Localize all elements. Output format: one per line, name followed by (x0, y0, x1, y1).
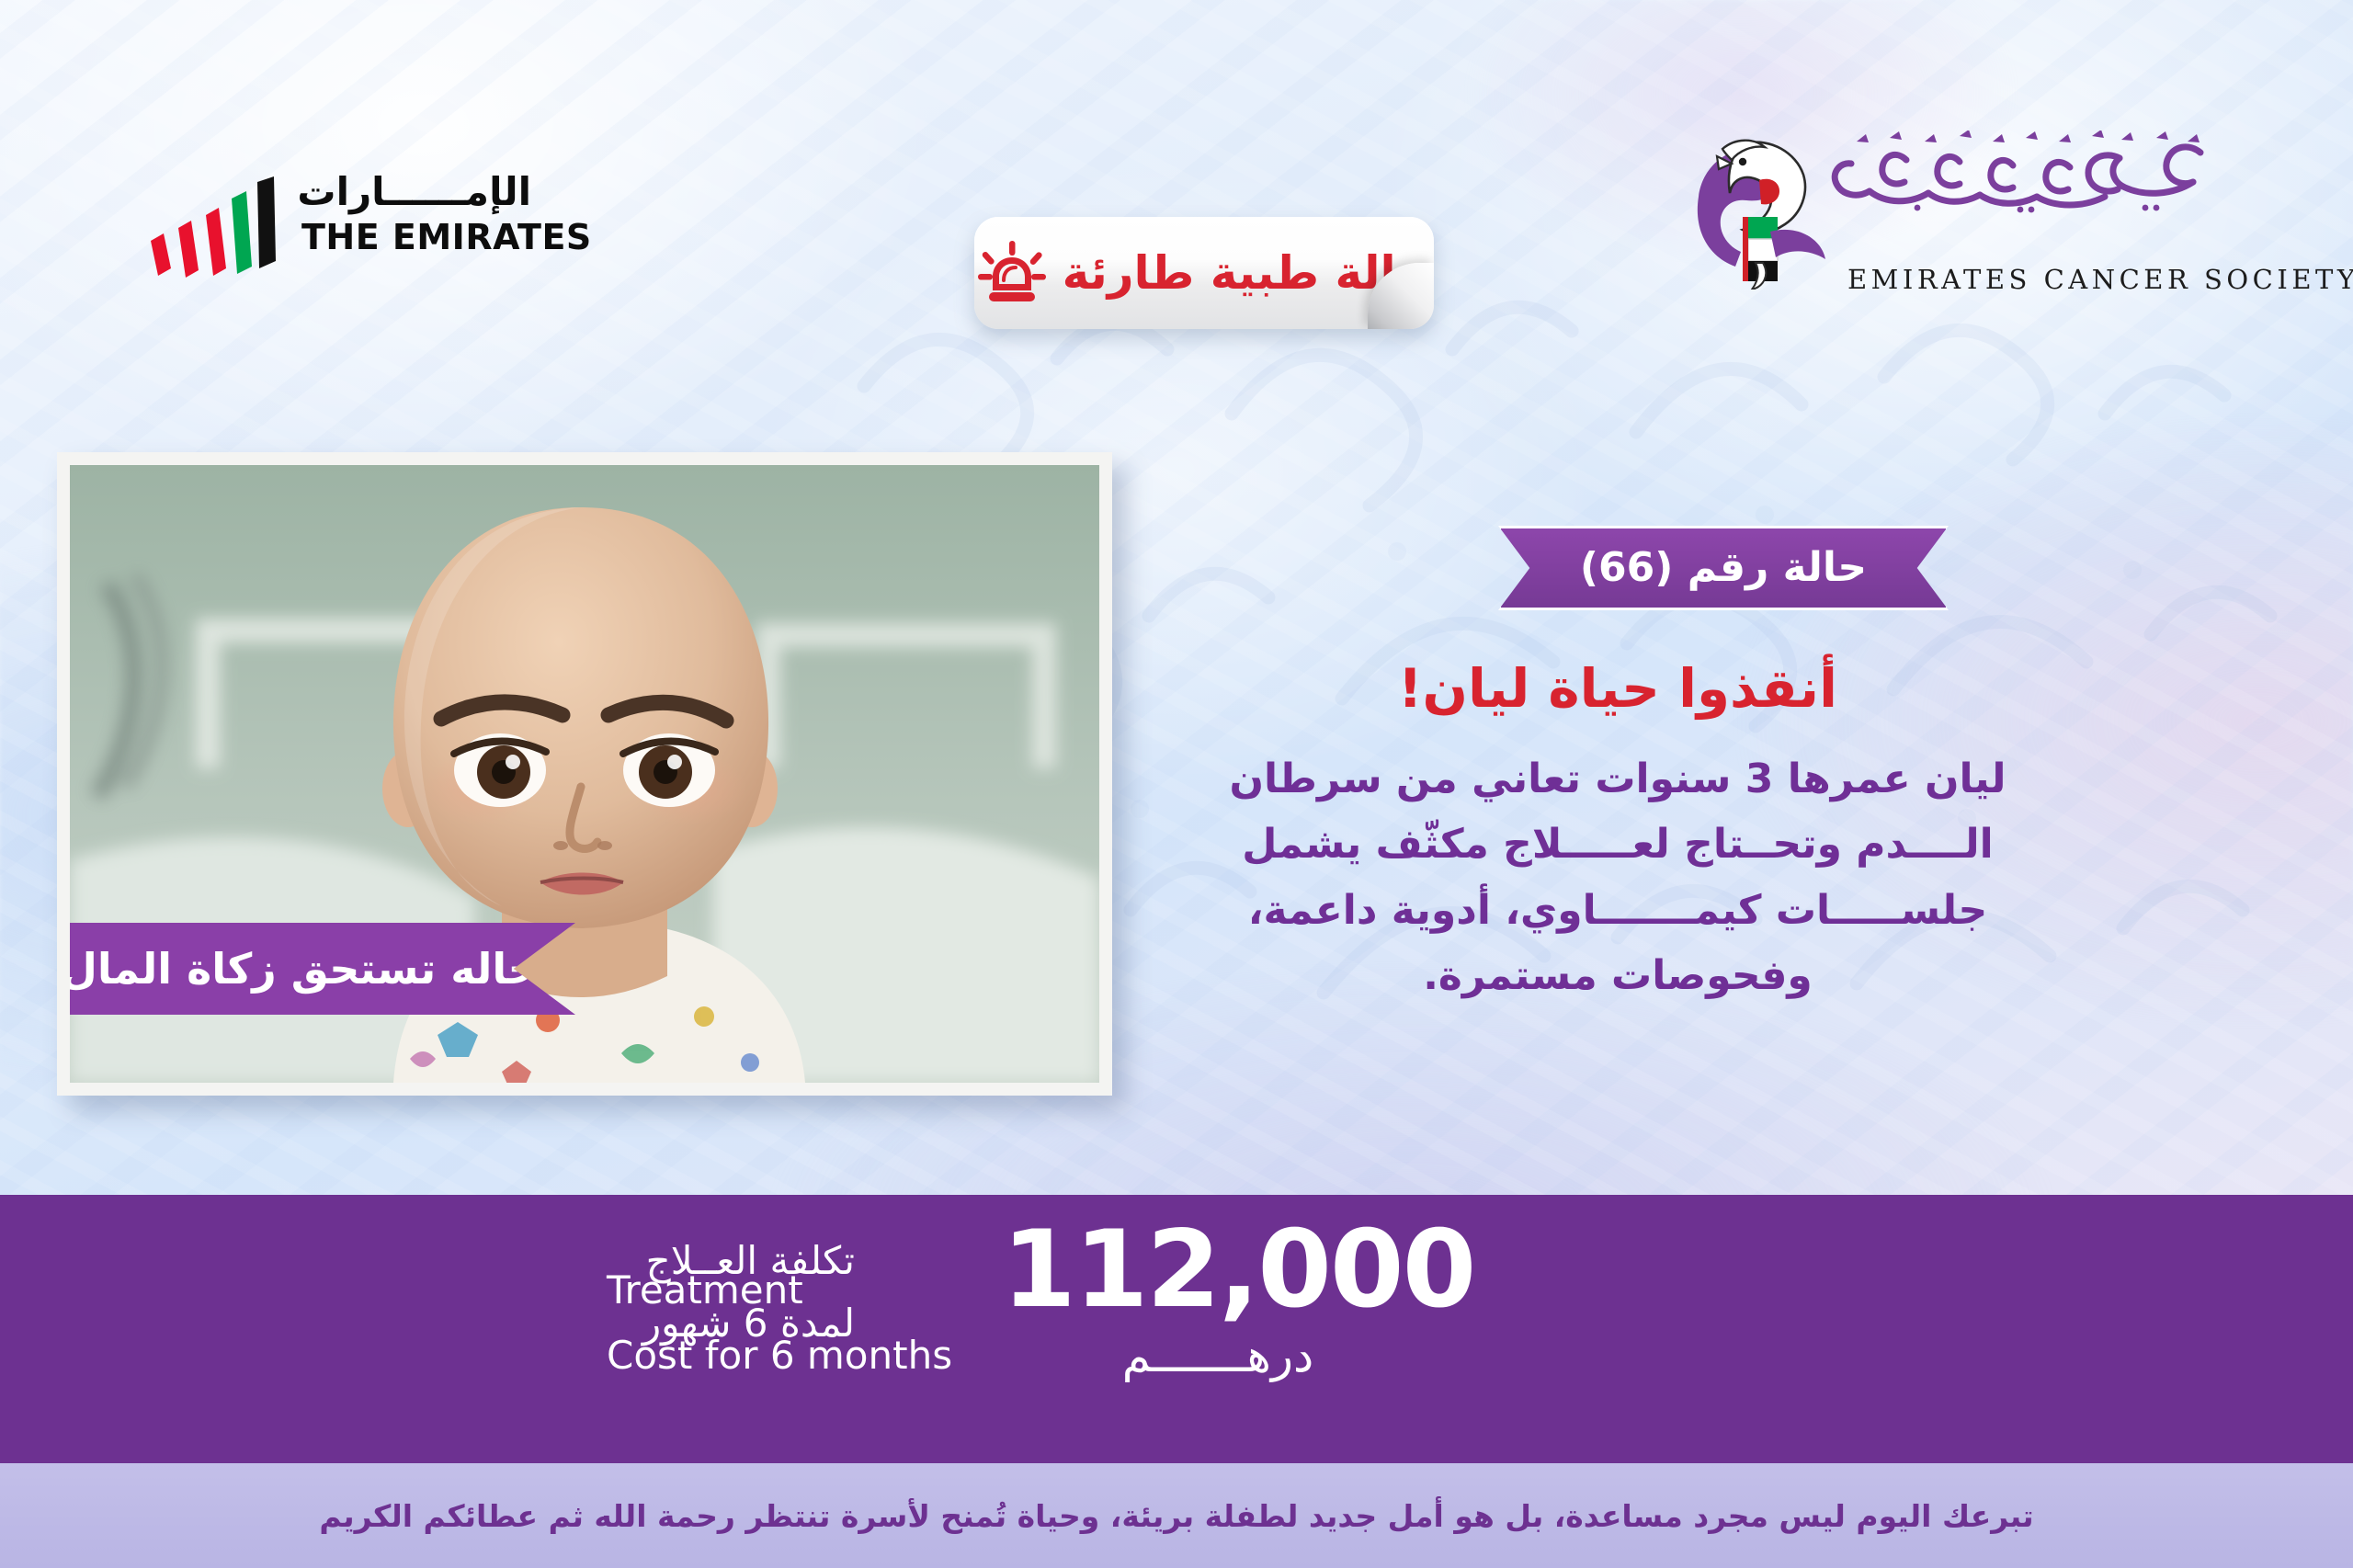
uae-logo-english: THE EMIRATES (301, 219, 531, 257)
case-number-ribbon: حالة رقم (66) (1498, 526, 1949, 610)
footer-message: تبرعك اليوم ليس مجرد مساعدة، بل هو أمل ج… (319, 1501, 2033, 1531)
zakat-badge-label: الحاله تستحق زكاة المال (70, 944, 569, 994)
ecs-logo-english: EMIRATES CANCER SOCIETY (1847, 264, 2215, 295)
treatment-cost-amount: 112,000 درهـــــــم (1002, 1217, 1434, 1382)
treatment-cost-label-english: Treatment Cost for 6 months (607, 1257, 965, 1389)
cost-amount-value: 112,000 (1002, 1217, 1434, 1324)
case-description-line: ليان عمرها 3 سنوات تعاني من سرطان (1158, 746, 2077, 812)
patient-photo: الحاله تستحق زكاة المال (70, 465, 1099, 1083)
patient-photo-frame: الحاله تستحق زكاة المال (57, 452, 1112, 1096)
uae-logo-arabic: الإمــــــارات (301, 173, 531, 211)
donation-poster: الإمــــــارات THE EMIRATES (0, 0, 2353, 1568)
ecs-logo-arabic-calligraphy (1829, 131, 2215, 236)
cost-label-en-line1: Treatment (607, 1257, 965, 1323)
case-number-label: حالة رقم (66) (1580, 548, 1867, 588)
case-description-line: الــــدم وتحــتاج لعـــــلاج مكثّف يشمل (1158, 812, 2077, 877)
siren-icon (978, 241, 1046, 305)
cost-currency-label: درهـــــــم (1002, 1329, 1434, 1382)
case-description-line: وفحوصات مستمرة. (1158, 943, 2077, 1008)
zakat-badge: الحاله تستحق زكاة المال (70, 923, 575, 1015)
footer-band: تبرعك اليوم ليس مجرد مساعدة، بل هو أمل ج… (0, 1463, 2353, 1568)
case-description: ليان عمرها 3 سنوات تعاني من سرطان الــــ… (1158, 746, 2077, 1008)
emirates-cancer-society-logo: EMIRATES CANCER SOCIETY (1682, 129, 2215, 299)
falcon-icon (1682, 129, 1847, 290)
uae-logo: الإمــــــارات THE EMIRATES (147, 164, 533, 292)
cost-label-en-line2: Cost for 6 months (607, 1323, 965, 1388)
page-title: أنقذوا حياة ليان! (1158, 660, 2077, 719)
uae-flag-strokes-icon (147, 176, 294, 287)
emergency-badge: حالة طبية طارئة (974, 217, 1434, 329)
case-description-line: جلســـــات كيمـــــــاوي، أدوية داعمة، (1158, 878, 2077, 943)
